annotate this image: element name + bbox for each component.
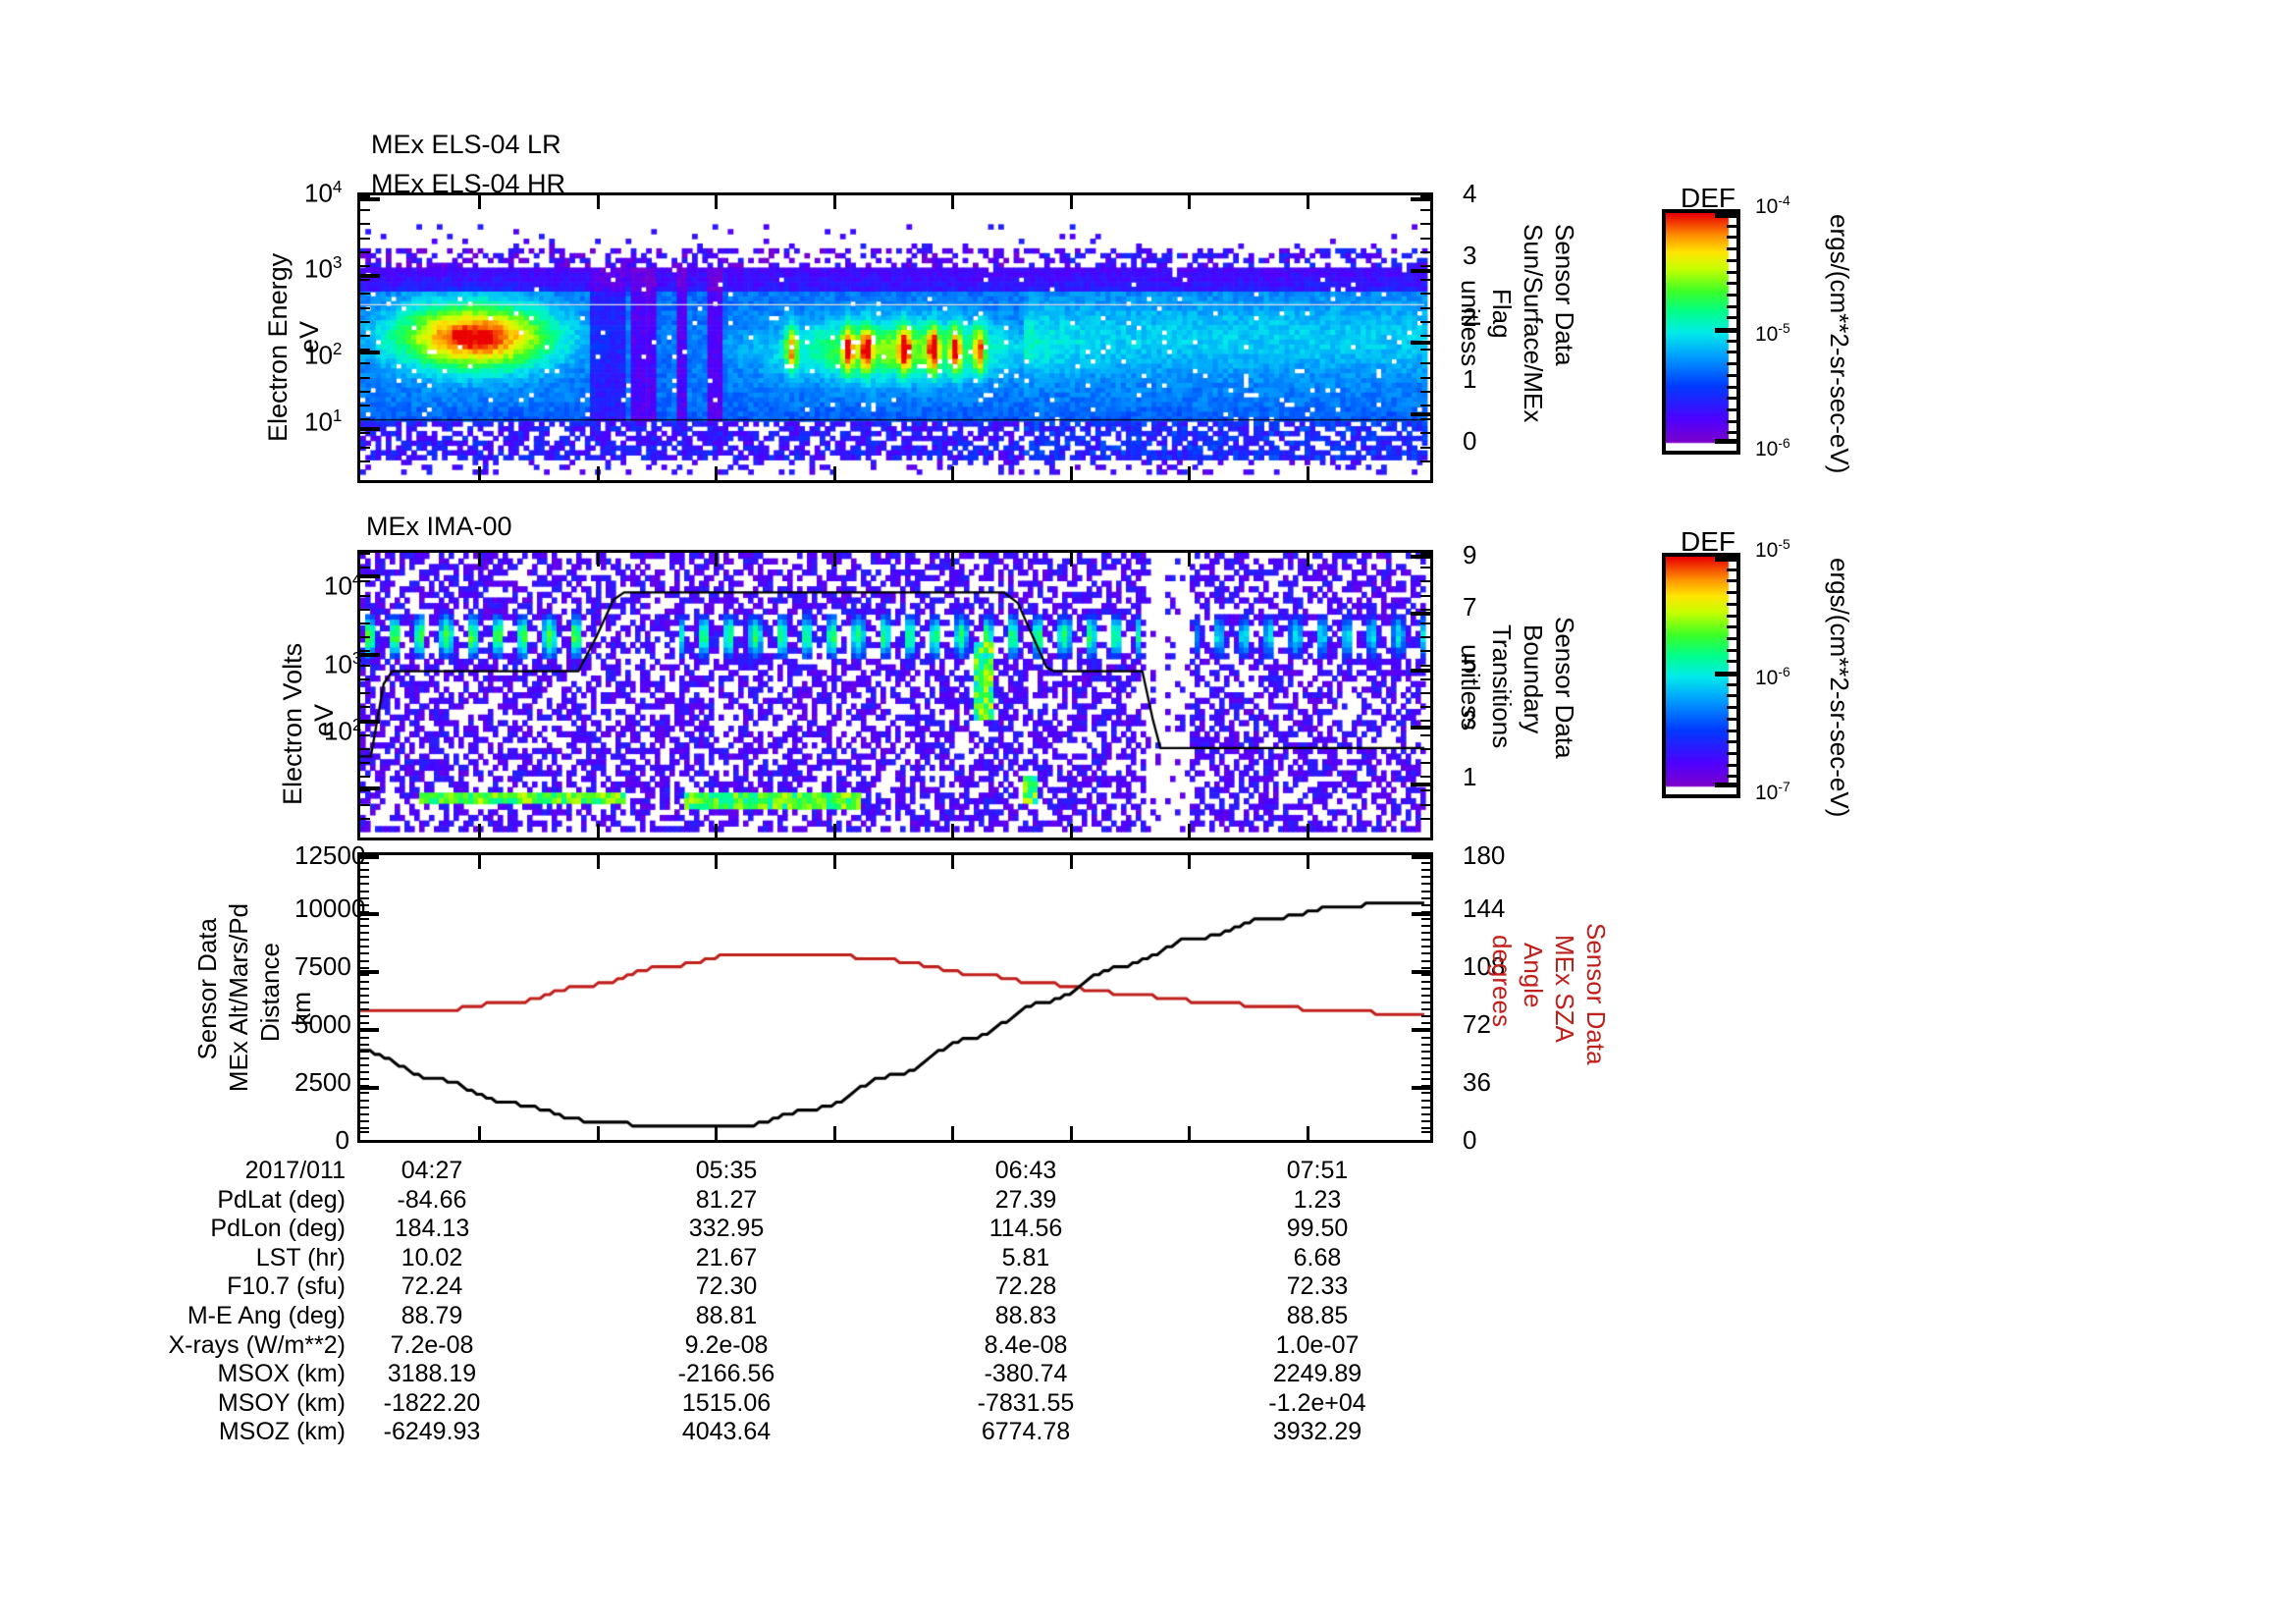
axis-tick xyxy=(360,1100,369,1102)
axis-tick xyxy=(1420,776,1430,778)
table-cell: 72.30 xyxy=(648,1272,805,1301)
axis-tick xyxy=(1411,555,1430,559)
axis-tick xyxy=(1421,897,1430,899)
axis-tick xyxy=(360,1078,369,1080)
axis-tick xyxy=(360,567,370,568)
axis-tick xyxy=(1727,431,1736,434)
axis-tick xyxy=(1421,1092,1430,1094)
axis-tick xyxy=(360,1044,369,1046)
axis-tick xyxy=(360,1051,369,1053)
panel2-right-tick-1: 1 xyxy=(1463,762,1476,792)
axis-tick xyxy=(1307,466,1309,480)
table-row-label: MSOZ (km) xyxy=(79,1418,346,1446)
axis-tick xyxy=(360,883,369,885)
colorbar1-bot-label: 10-6 xyxy=(1755,435,1790,461)
axis-tick xyxy=(1188,855,1191,869)
axis-tick xyxy=(360,223,370,225)
panel2-right-label-3: Transitions xyxy=(1486,624,1517,748)
axis-tick xyxy=(1420,622,1430,624)
axis-tick xyxy=(1727,282,1736,285)
axis-tick xyxy=(597,855,600,869)
axis-tick xyxy=(1412,970,1430,974)
axis-tick xyxy=(360,818,370,820)
table-cell: 06:43 xyxy=(947,1157,1104,1185)
axis-tick xyxy=(1727,294,1736,297)
axis-tick xyxy=(1420,447,1430,449)
axis-tick xyxy=(1421,1008,1430,1010)
axis-tick xyxy=(1421,862,1430,864)
axis-tick xyxy=(1188,1126,1191,1140)
axis-tick xyxy=(360,391,370,393)
axis-tick xyxy=(1420,279,1430,281)
table-cell: 1.23 xyxy=(1239,1186,1396,1215)
axis-tick xyxy=(1715,439,1736,444)
axis-tick xyxy=(360,279,370,281)
panel3-ytick-5000: 5000 xyxy=(294,1009,349,1040)
table-cell: 7.2e-08 xyxy=(353,1331,510,1360)
axis-tick xyxy=(1411,783,1430,786)
plot-surface xyxy=(360,553,1430,838)
axis-tick xyxy=(1421,1001,1430,1003)
panel2-ytick-1e4: 104 xyxy=(324,569,361,602)
axis-tick xyxy=(360,580,370,582)
axis-tick xyxy=(951,855,954,869)
axis-tick xyxy=(1421,1015,1430,1017)
axis-tick xyxy=(1421,988,1430,990)
axis-tick xyxy=(1307,1126,1309,1140)
axis-tick xyxy=(1727,660,1736,663)
axis-tick xyxy=(715,553,718,567)
axis-tick xyxy=(1411,341,1430,345)
axis-tick xyxy=(360,609,370,611)
axis-tick xyxy=(360,1113,369,1115)
axis-tick xyxy=(360,251,370,253)
axis-tick xyxy=(1421,1120,1430,1122)
table-cell: -1822.20 xyxy=(353,1389,510,1418)
axis-tick xyxy=(1727,649,1736,652)
axis-tick xyxy=(1727,247,1736,250)
axis-tick xyxy=(951,553,954,567)
axis-tick xyxy=(360,995,369,997)
table-cell: 1515.06 xyxy=(648,1389,805,1418)
table-cell: -1.2e+04 xyxy=(1239,1389,1396,1418)
axis-tick xyxy=(1420,238,1430,240)
panel3-right-tick-0: 0 xyxy=(1463,1125,1476,1156)
axis-tick xyxy=(360,574,380,578)
axis-tick xyxy=(360,981,369,983)
axis-tick xyxy=(360,238,370,240)
panel1-ytick-1e3: 103 xyxy=(304,252,342,285)
table-row-label: PdLat (deg) xyxy=(79,1186,346,1215)
axis-tick xyxy=(360,553,370,555)
panel3-right-tick-144: 144 xyxy=(1463,893,1505,924)
plot-surface xyxy=(360,195,1430,480)
plot-canvas: MEx ELS-04 LR MEx ELS-04 HR Electron Ene… xyxy=(0,0,2296,1623)
axis-tick xyxy=(1420,377,1430,379)
axis-tick xyxy=(1420,678,1430,680)
axis-tick xyxy=(1715,328,1736,333)
panel3-lineplot xyxy=(357,852,1433,1143)
axis-tick xyxy=(1411,612,1430,616)
axis-tick xyxy=(1420,349,1430,351)
axis-tick xyxy=(597,1126,600,1140)
axis-tick xyxy=(1420,804,1430,806)
panel3-right-label-1: Sensor Data xyxy=(1580,923,1611,1065)
axis-tick xyxy=(833,1126,836,1140)
panel2-right-tick-7: 7 xyxy=(1463,592,1476,622)
axis-tick xyxy=(1727,615,1736,618)
axis-tick xyxy=(360,447,370,449)
axis-tick xyxy=(360,946,369,947)
axis-tick xyxy=(1412,1028,1430,1032)
panel2-spectrogram xyxy=(357,550,1433,840)
axis-tick xyxy=(1727,579,1736,582)
axis-tick xyxy=(1411,197,1430,201)
axis-tick xyxy=(1420,321,1430,323)
axis-tick xyxy=(1421,925,1430,927)
panel1-ytick-1e2: 102 xyxy=(304,339,342,371)
axis-tick xyxy=(1307,195,1309,209)
axis-tick xyxy=(478,195,481,209)
axis-tick xyxy=(360,762,370,764)
table-cell: 07:51 xyxy=(1239,1157,1396,1185)
axis-tick xyxy=(360,720,380,724)
axis-tick xyxy=(715,824,718,838)
table-cell: -2166.56 xyxy=(648,1360,805,1388)
axis-tick xyxy=(360,377,370,379)
axis-tick xyxy=(1420,650,1430,652)
axis-tick xyxy=(1188,824,1191,838)
axis-tick xyxy=(1421,939,1430,941)
axis-tick xyxy=(1727,718,1736,721)
axis-tick xyxy=(715,466,718,480)
axis-tick xyxy=(1420,665,1430,667)
axis-tick xyxy=(360,988,369,990)
axis-tick xyxy=(1727,316,1736,319)
axis-tick xyxy=(1421,967,1430,969)
axis-tick xyxy=(1727,351,1736,353)
axis-tick xyxy=(833,553,836,567)
axis-tick xyxy=(360,362,370,364)
axis-tick xyxy=(1421,1044,1430,1046)
axis-tick xyxy=(1421,1113,1430,1115)
axis-tick xyxy=(1307,553,1309,567)
table-row-label: 2017/011 xyxy=(79,1157,346,1185)
axis-tick xyxy=(1421,1057,1430,1059)
axis-tick xyxy=(1420,223,1430,225)
axis-tick xyxy=(1727,408,1736,411)
panel1-title-lr: MEx ELS-04 LR xyxy=(371,130,561,160)
axis-tick xyxy=(1411,269,1430,273)
axis-tick xyxy=(1727,752,1736,755)
axis-tick xyxy=(1411,412,1430,416)
axis-tick xyxy=(1727,740,1736,743)
axis-tick xyxy=(1412,912,1430,916)
axis-tick xyxy=(360,351,380,354)
axis-tick xyxy=(1420,706,1430,708)
axis-tick xyxy=(1421,981,1430,983)
axis-tick xyxy=(478,824,481,838)
axis-tick xyxy=(1421,1064,1430,1066)
axis-tick xyxy=(360,665,370,667)
panel2-ylabel-1: Electron Volts xyxy=(278,628,308,805)
axis-tick xyxy=(1420,609,1430,611)
axis-tick xyxy=(360,967,369,969)
axis-tick xyxy=(360,650,370,652)
axis-tick xyxy=(360,1001,369,1003)
axis-tick xyxy=(1420,251,1430,253)
axis-tick xyxy=(1420,567,1430,568)
axis-tick xyxy=(360,197,380,201)
axis-tick xyxy=(833,466,836,480)
panel2-right-label-1: Sensor Data xyxy=(1549,617,1579,759)
axis-tick xyxy=(1420,418,1430,420)
axis-tick xyxy=(360,293,370,295)
table-cell: 5.81 xyxy=(947,1244,1104,1272)
axis-tick xyxy=(360,970,379,974)
table-cell: 72.28 xyxy=(947,1272,1104,1301)
axis-tick xyxy=(360,1131,369,1133)
table-row-label: M-E Ang (deg) xyxy=(79,1302,346,1330)
axis-tick xyxy=(1727,271,1736,274)
axis-tick xyxy=(1420,307,1430,309)
axis-tick xyxy=(360,405,370,406)
axis-tick xyxy=(1727,603,1736,606)
axis-tick xyxy=(360,1037,369,1039)
axis-tick xyxy=(1188,195,1191,209)
panel1-right-label-1: Sensor Data xyxy=(1549,224,1579,366)
plot-surface xyxy=(360,855,1430,1140)
axis-tick xyxy=(360,1107,369,1109)
axis-tick xyxy=(1420,818,1430,820)
table-cell: 3188.19 xyxy=(353,1360,510,1388)
panel3-right-label-4: degrees xyxy=(1486,935,1517,1027)
colorbar1 xyxy=(1662,209,1740,455)
table-row-label: LST (hr) xyxy=(79,1244,346,1272)
axis-tick xyxy=(1420,580,1430,582)
axis-tick xyxy=(1421,1100,1430,1102)
axis-tick xyxy=(360,1022,369,1024)
axis-tick xyxy=(1727,591,1736,594)
table-cell: 10.02 xyxy=(353,1244,510,1272)
axis-tick xyxy=(1070,553,1073,567)
table-cell: 9.2e-08 xyxy=(648,1331,805,1360)
axis-tick xyxy=(360,321,370,323)
axis-tick xyxy=(715,855,718,869)
axis-tick xyxy=(1188,466,1191,480)
table-cell: 21.67 xyxy=(648,1244,805,1272)
panel2-right-label-2: Boundary xyxy=(1518,624,1548,733)
table-row-label: F10.7 (sfu) xyxy=(79,1272,346,1301)
axis-tick xyxy=(360,925,369,927)
axis-tick xyxy=(1715,783,1736,787)
axis-tick xyxy=(360,427,380,431)
axis-tick xyxy=(597,824,600,838)
axis-tick xyxy=(1070,195,1073,209)
table-cell: 72.33 xyxy=(1239,1272,1396,1301)
panel3-ytick-0: 0 xyxy=(294,1125,349,1156)
axis-tick xyxy=(360,786,380,790)
panel3-right-label-3: Angle xyxy=(1518,943,1548,1008)
table-cell: 2249.89 xyxy=(1239,1360,1396,1388)
axis-tick xyxy=(951,466,954,480)
table-cell: 88.83 xyxy=(947,1302,1104,1330)
axis-tick xyxy=(360,335,370,337)
colorbar2-units: ergs/(cm**2-sr-sec-eV) xyxy=(1824,558,1854,817)
axis-tick xyxy=(1411,669,1430,673)
axis-tick xyxy=(1421,1131,1430,1133)
axis-tick xyxy=(360,636,370,638)
table-cell: 3932.29 xyxy=(1239,1418,1396,1446)
panel2-title: MEx IMA-00 xyxy=(366,512,512,542)
axis-tick xyxy=(1421,904,1430,906)
axis-tick xyxy=(1727,625,1736,628)
axis-tick xyxy=(1070,1126,1073,1140)
axis-tick xyxy=(1412,1140,1430,1143)
axis-tick xyxy=(1307,855,1309,869)
axis-tick xyxy=(360,1057,369,1059)
panel3-left-label-1: Sensor Data xyxy=(192,918,223,1060)
table-cell: 99.50 xyxy=(1239,1215,1396,1243)
axis-tick xyxy=(1420,405,1430,406)
axis-tick xyxy=(360,932,369,934)
axis-tick xyxy=(478,466,481,480)
colorbar2-mid-label: 10-6 xyxy=(1755,664,1790,690)
axis-tick xyxy=(360,1140,379,1143)
axis-tick xyxy=(360,748,370,750)
axis-tick xyxy=(1420,209,1430,211)
axis-tick xyxy=(1715,557,1736,562)
panel3-ytick-7500: 7500 xyxy=(294,951,349,982)
axis-tick xyxy=(1727,694,1736,697)
axis-tick xyxy=(1727,730,1736,732)
table-cell: -7831.55 xyxy=(947,1389,1104,1418)
panel2-right-label-4: unitless xyxy=(1455,644,1485,730)
axis-tick xyxy=(360,432,370,434)
axis-tick xyxy=(1421,883,1430,885)
axis-tick xyxy=(1420,335,1430,337)
axis-tick xyxy=(1420,460,1430,462)
axis-tick xyxy=(1420,748,1430,750)
panel3-left-label-3: Distance xyxy=(255,943,286,1042)
panel1-right-label-4: unitless xyxy=(1455,280,1485,366)
table-cell: 88.85 xyxy=(1239,1302,1396,1330)
axis-tick xyxy=(1420,362,1430,364)
panel3-right-label-2: MEx SZA xyxy=(1549,935,1579,1043)
panel3-ytick-12500: 12500 xyxy=(294,840,349,871)
axis-tick xyxy=(1727,683,1736,686)
axis-tick xyxy=(1420,692,1430,694)
axis-tick xyxy=(1727,397,1736,400)
axis-tick xyxy=(478,1126,481,1140)
axis-tick xyxy=(1715,213,1736,218)
axis-tick xyxy=(833,195,836,209)
axis-tick xyxy=(1420,636,1430,638)
axis-tick xyxy=(360,939,369,941)
table-row-label: X-rays (W/m**2) xyxy=(79,1331,346,1360)
axis-tick xyxy=(1420,734,1430,736)
axis-tick xyxy=(360,1092,369,1094)
axis-tick xyxy=(1421,876,1430,878)
axis-tick xyxy=(715,195,718,209)
panel3-ytick-2500: 2500 xyxy=(294,1067,349,1098)
axis-tick xyxy=(1421,960,1430,962)
axis-tick xyxy=(1727,637,1736,640)
table-cell: -6249.93 xyxy=(353,1418,510,1446)
axis-tick xyxy=(360,1127,369,1129)
axis-tick xyxy=(1307,824,1309,838)
axis-tick xyxy=(1412,1086,1430,1090)
axis-tick xyxy=(1727,374,1736,377)
panel2-ytick-1e3: 103 xyxy=(324,648,361,680)
table-cell: 6774.78 xyxy=(947,1418,1104,1446)
table-row-label: MSOX (km) xyxy=(79,1360,346,1388)
table-cell: 8.4e-08 xyxy=(947,1331,1104,1360)
axis-tick xyxy=(360,274,380,278)
axis-tick xyxy=(1070,855,1073,869)
panel1-ytick-1e4: 104 xyxy=(304,177,342,209)
axis-tick xyxy=(360,307,370,309)
axis-tick xyxy=(1420,391,1430,393)
axis-tick xyxy=(833,824,836,838)
axis-tick xyxy=(360,1071,369,1073)
axis-tick xyxy=(1411,726,1430,730)
axis-tick xyxy=(360,804,370,806)
axis-tick xyxy=(360,678,370,680)
axis-tick xyxy=(360,891,369,893)
table-cell: 88.81 xyxy=(648,1302,805,1330)
colorbar2 xyxy=(1662,553,1740,798)
axis-tick xyxy=(1421,995,1430,997)
table-cell: 05:35 xyxy=(648,1157,805,1185)
table-cell: 72.24 xyxy=(353,1272,510,1301)
panel3-left-label-2: MEx Alt/Mars/Pd xyxy=(224,903,254,1092)
axis-tick xyxy=(360,1064,369,1066)
axis-tick xyxy=(1421,1078,1430,1080)
axis-tick xyxy=(1420,762,1430,764)
table-cell: 6.68 xyxy=(1239,1244,1396,1272)
axis-tick xyxy=(360,952,369,954)
table-cell: 332.95 xyxy=(648,1215,805,1243)
axis-tick xyxy=(360,653,380,657)
axis-tick xyxy=(1421,1071,1430,1073)
axis-tick xyxy=(478,553,481,567)
colorbar2-bot-label: 10-7 xyxy=(1755,779,1790,805)
colorbar1-units: ergs/(cm**2-sr-sec-eV) xyxy=(1824,214,1854,473)
axis-tick xyxy=(1727,362,1736,365)
axis-tick xyxy=(360,960,369,962)
table-cell: -380.74 xyxy=(947,1360,1104,1388)
axis-tick xyxy=(951,824,954,838)
axis-tick xyxy=(1421,932,1430,934)
panel2-ytick-1e2: 102 xyxy=(324,715,361,747)
axis-tick xyxy=(1715,672,1736,676)
axis-tick xyxy=(1727,764,1736,767)
axis-tick xyxy=(1727,340,1736,343)
axis-tick xyxy=(1727,775,1736,778)
panel1-right-tick-1: 1 xyxy=(1463,364,1476,395)
table-cell: 4043.64 xyxy=(648,1418,805,1446)
axis-tick xyxy=(597,195,600,209)
colorbar1-top-label: 10-4 xyxy=(1755,192,1790,219)
axis-tick xyxy=(360,876,369,878)
axis-tick xyxy=(360,418,370,420)
axis-tick xyxy=(1421,952,1430,954)
panel2-right-tick-9: 9 xyxy=(1463,540,1476,570)
axis-tick xyxy=(1421,918,1430,920)
table-row-label: PdLon (deg) xyxy=(79,1215,346,1243)
axis-tick xyxy=(360,692,370,694)
